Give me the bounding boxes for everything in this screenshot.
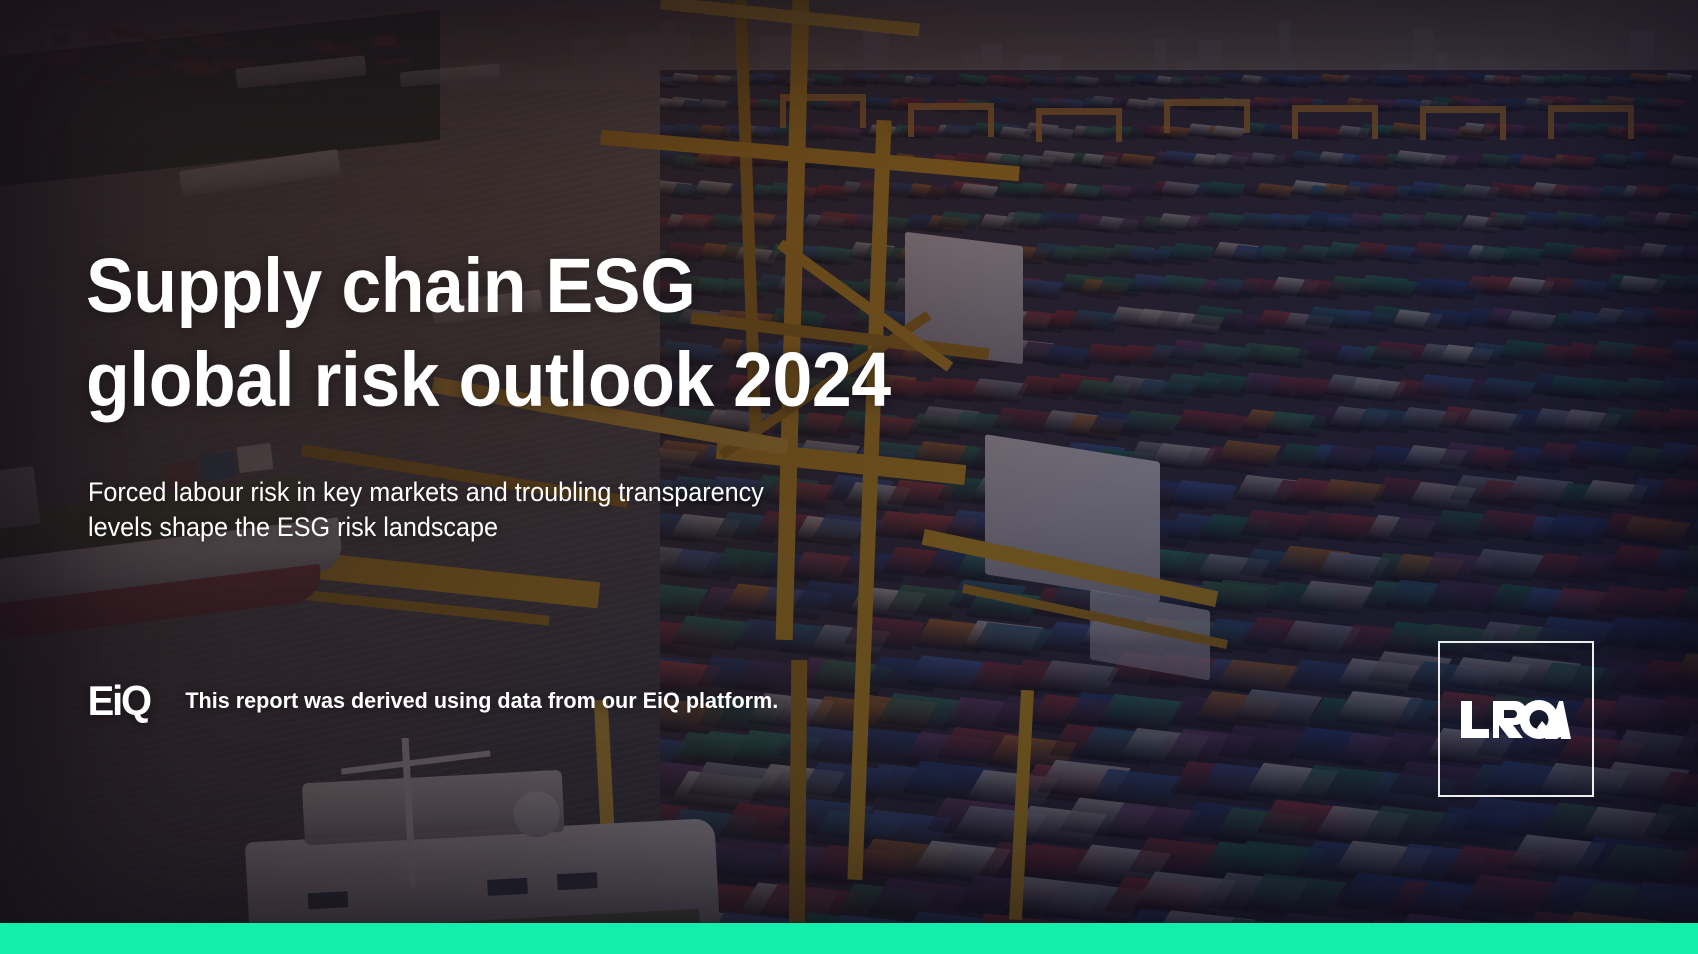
cover-content: Supply chain ESG global risk outlook 202… [0,0,1698,954]
eiq-attribution-caption: This report was derived using data from … [186,690,779,713]
accent-bar [0,923,1698,954]
page-title: Supply chain ESG global risk outlook 202… [86,240,891,428]
page-subtitle: Forced labour risk in key markets and tr… [88,475,764,544]
lrqa-logo-box [1438,641,1594,797]
eiq-logo: EiQ [88,680,150,722]
report-cover: Supply chain ESG global risk outlook 202… [0,0,1698,954]
lrqa-wordmark [1459,699,1573,739]
eiq-attribution: EiQ This report was derived using data f… [86,680,791,722]
